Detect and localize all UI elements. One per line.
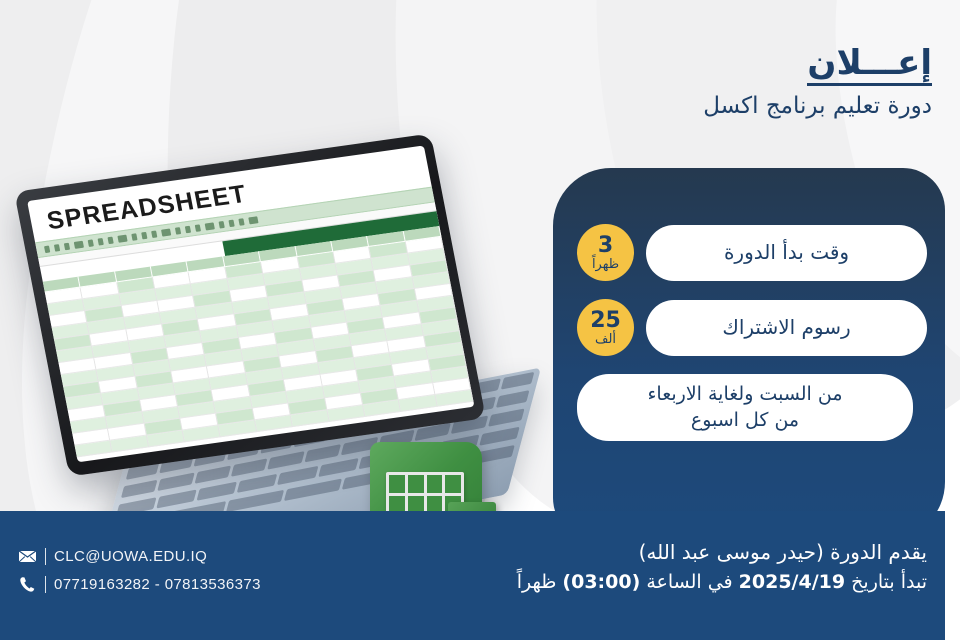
badge-unit: ألف bbox=[595, 333, 616, 346]
start-line-suffix: ظهراً bbox=[517, 571, 557, 593]
contact-email-line[interactable]: CLC@UOWA.EDU.IQ bbox=[18, 547, 261, 566]
toolbar-icon bbox=[238, 218, 244, 226]
info-row-fee: 25 ألف رسوم الاشتراك bbox=[577, 299, 927, 356]
subheadline-course-title: دورة تعليم برنامج اكسل bbox=[703, 93, 932, 121]
spreadsheet-data-rows bbox=[45, 237, 474, 458]
laptop-screen: SPREADSHEET bbox=[27, 145, 474, 462]
headline-announcement: إعـــلان bbox=[807, 46, 932, 86]
footer-bar: CLC@UOWA.EDU.IQ 07719163282 - 0781353637… bbox=[0, 511, 945, 640]
toolbar-icon bbox=[185, 225, 191, 233]
email-text: CLC@UOWA.EDU.IQ bbox=[54, 548, 207, 565]
laptop-illustration: SPREADSHEET bbox=[10, 150, 570, 515]
contact-divider bbox=[45, 548, 46, 565]
toolbar-icon bbox=[151, 230, 157, 238]
toolbar-icon bbox=[218, 221, 224, 229]
pill-start-time-label[interactable]: وقت بدأ الدورة bbox=[646, 225, 927, 281]
schedule-line-2: من كل اسبوع bbox=[691, 409, 799, 431]
start-date: 2025/4/19 bbox=[739, 571, 845, 593]
toolbar-icon bbox=[195, 224, 201, 232]
badge-start-time: 3 ظهراً bbox=[577, 224, 634, 281]
toolbar-icon bbox=[44, 245, 50, 253]
badge-number: 25 bbox=[590, 310, 621, 332]
start-line-prefix: تبدأ بتاريخ bbox=[851, 571, 927, 593]
info-row-start-time: 3 ظهراً وقت بدأ الدورة bbox=[577, 224, 927, 281]
laptop-screen-assembly: SPREADSHEET bbox=[14, 133, 486, 476]
toolbar-icon bbox=[117, 234, 127, 242]
start-line-middle: في الساعة bbox=[646, 571, 732, 593]
toolbar-icon bbox=[161, 228, 171, 236]
badge-fee: 25 ألف bbox=[577, 299, 634, 356]
toolbar-icon bbox=[131, 233, 137, 241]
info-row-schedule: من السبت ولغاية الاربعاء من كل اسبوع bbox=[577, 374, 927, 441]
pill-schedule-label[interactable]: من السبت ولغاية الاربعاء من كل اسبوع bbox=[577, 374, 913, 441]
badge-unit: ظهراً bbox=[592, 258, 619, 271]
toolbar-icon bbox=[175, 227, 181, 235]
toolbar-icon bbox=[64, 242, 70, 250]
start-date-line: تبدأ بتاريخ 2025/4/19 في الساعة (03:00) … bbox=[517, 568, 927, 597]
phone-text: 07719163282 - 07813536373 bbox=[54, 576, 261, 593]
contact-phone-line[interactable]: 07719163282 - 07813536373 bbox=[18, 575, 261, 594]
badge-number: 3 bbox=[598, 235, 613, 257]
poster-header: إعـــلان دورة تعليم برنامج اكسل bbox=[703, 46, 932, 120]
toolbar-icon bbox=[88, 239, 94, 247]
contact-block: CLC@UOWA.EDU.IQ 07719163282 - 0781353637… bbox=[18, 547, 261, 603]
info-row-list: 3 ظهراً وقت بدأ الدورة 25 ألف رسوم الاشت… bbox=[577, 224, 927, 441]
laptop-bezel: SPREADSHEET bbox=[14, 133, 486, 476]
contact-divider bbox=[45, 576, 46, 593]
phone-icon bbox=[18, 575, 37, 594]
toolbar-icon bbox=[74, 240, 84, 248]
toolbar-icon bbox=[97, 238, 103, 246]
schedule-line-1: من السبت ولغاية الاربعاء bbox=[647, 383, 842, 405]
envelope-icon bbox=[18, 547, 37, 566]
pill-fee-label[interactable]: رسوم الاشتراك bbox=[646, 300, 927, 356]
instructor-line: يقدم الدورة (حيدر موسى عبد الله) bbox=[517, 537, 927, 568]
toolbar-icon bbox=[248, 216, 258, 224]
toolbar-icon bbox=[54, 244, 60, 252]
toolbar-icon bbox=[205, 222, 215, 230]
info-panel: 3 ظهراً وقت بدأ الدورة 25 ألف رسوم الاشت… bbox=[553, 168, 945, 540]
start-time: (03:00) bbox=[562, 571, 640, 593]
footer-arabic-block: يقدم الدورة (حيدر موسى عبد الله) تبدأ بت… bbox=[517, 537, 927, 597]
poster-canvas: إعـــلان دورة تعليم برنامج اكسل bbox=[0, 0, 960, 640]
toolbar-icon bbox=[107, 236, 113, 244]
toolbar-icon bbox=[141, 231, 147, 239]
toolbar-icon bbox=[228, 219, 234, 227]
